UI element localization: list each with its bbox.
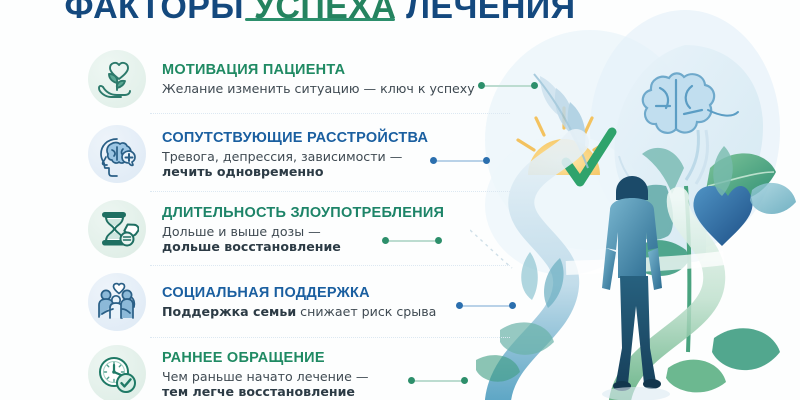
factor-subtext-bold: дольше восстановление: [162, 239, 341, 254]
factor-heading: СОЦИАЛЬНАЯ ПОДДЕРЖКА: [162, 285, 436, 301]
page-title: ФАКТОРЫ УСПЕХА ЛЕЧЕНИЯ: [0, 0, 640, 24]
connector-social-support: [456, 302, 516, 309]
row-separator: [150, 265, 510, 267]
right-illustration: [470, 0, 800, 400]
title-part-2: УСПЕХА: [254, 0, 396, 26]
factor-subtext-plain: Тревога, депрессия, зависимости —: [162, 149, 402, 164]
factor-text-early-treatment: РАННЕЕ ОБРАЩЕНИЕ Чем раньше начато лечен…: [162, 350, 368, 399]
infographic-canvas: ФАКТОРЫ УСПЕХА ЛЕЧЕНИЯ МОТИВАЦИЯ ПАЦИЕНТ…: [0, 0, 800, 400]
connector-motivation: [478, 82, 538, 89]
factor-heading: ДЛИТЕЛЬНОСТЬ ЗЛОУПОТРЕБЛЕНИЯ: [162, 205, 444, 221]
row-separator: [150, 113, 510, 115]
factor-subtext-plain: Дольше и выше дозы —: [162, 224, 321, 239]
connector-dot: [531, 82, 538, 89]
hand-plant-heart-icon: [88, 50, 146, 108]
connector-dot: [408, 377, 415, 384]
factor-heading: РАННЕЕ ОБРАЩЕНИЕ: [162, 350, 368, 366]
hourglass-pills-icon: [88, 200, 146, 258]
factor-row-social-support[interactable]: СОЦИАЛЬНАЯ ПОДДЕРЖКА Поддержка семьи сни…: [88, 273, 508, 331]
connector-dot: [478, 82, 485, 89]
connector-dot: [382, 237, 389, 244]
factor-subtext-bold: Поддержка семьи: [162, 304, 296, 319]
connector-early-treatment: [408, 377, 468, 384]
connector-dot: [456, 302, 463, 309]
connector-dot: [435, 237, 442, 244]
family-heart-icon: [88, 273, 146, 331]
title-part-1: ФАКТОРЫ: [65, 0, 244, 26]
factor-subtext: Чем раньше начато лечение — тем легче во…: [162, 369, 368, 399]
connector-dot: [430, 157, 437, 164]
connector-line: [389, 240, 435, 242]
head-brain-plus-icon: [88, 125, 146, 183]
connector-dot: [461, 377, 468, 384]
clock-check-icon: [88, 345, 146, 400]
connector-line: [463, 305, 509, 307]
factor-heading: МОТИВАЦИЯ ПАЦИЕНТА: [162, 62, 475, 78]
factor-text-duration: ДЛИТЕЛЬНОСТЬ ЗЛОУПОТРЕБЛЕНИЯ Дольше и вы…: [162, 205, 444, 254]
factor-subtext-plain: снижает риск срыва: [296, 304, 436, 319]
factor-row-duration[interactable]: ДЛИТЕЛЬНОСТЬ ЗЛОУПОТРЕБЛЕНИЯ Дольше и вы…: [88, 200, 508, 258]
connector-dot: [483, 157, 490, 164]
factor-subtext-plain: Чем раньше начато лечение —: [162, 369, 368, 384]
connector-line: [437, 160, 483, 162]
connector-comorbid: [430, 157, 490, 164]
factor-subtext: Желание изменить ситуацию — ключ к успех…: [162, 81, 475, 96]
factor-row-comorbid[interactable]: СОПУТСТВУЮЩИЕ РАССТРОЙСТВА Тревога, депр…: [88, 125, 508, 183]
factor-subtext: Поддержка семьи снижает риск срыва: [162, 304, 436, 319]
connector-duration: [382, 237, 442, 244]
factor-text-social-support: СОЦИАЛЬНАЯ ПОДДЕРЖКА Поддержка семьи сни…: [162, 285, 436, 319]
factor-subtext: Тревога, депрессия, зависимости — лечить…: [162, 149, 428, 179]
title-underline: [245, 18, 395, 21]
factor-row-motivation[interactable]: МОТИВАЦИЯ ПАЦИЕНТА Желание изменить ситу…: [88, 50, 508, 108]
factor-subtext-bold: лечить одновременно: [162, 164, 323, 179]
row-separator: [150, 337, 510, 339]
factor-text-comorbid: СОПУТСТВУЮЩИЕ РАССТРОЙСТВА Тревога, депр…: [162, 130, 428, 179]
connector-line: [485, 85, 531, 87]
row-separator: [150, 191, 510, 193]
connector-line: [415, 380, 461, 382]
factor-row-early-treatment[interactable]: РАННЕЕ ОБРАЩЕНИЕ Чем раньше начато лечен…: [88, 345, 508, 400]
factor-subtext-plain: Желание изменить ситуацию — ключ к успех…: [162, 81, 475, 96]
connector-dot: [509, 302, 516, 309]
title-part-3: ЛЕЧЕНИЯ: [406, 0, 575, 26]
factor-subtext-bold: тем легче восстановление: [162, 384, 355, 399]
factor-text-motivation: МОТИВАЦИЯ ПАЦИЕНТА Желание изменить ситу…: [162, 62, 475, 96]
factor-heading: СОПУТСТВУЮЩИЕ РАССТРОЙСТВА: [162, 130, 428, 146]
